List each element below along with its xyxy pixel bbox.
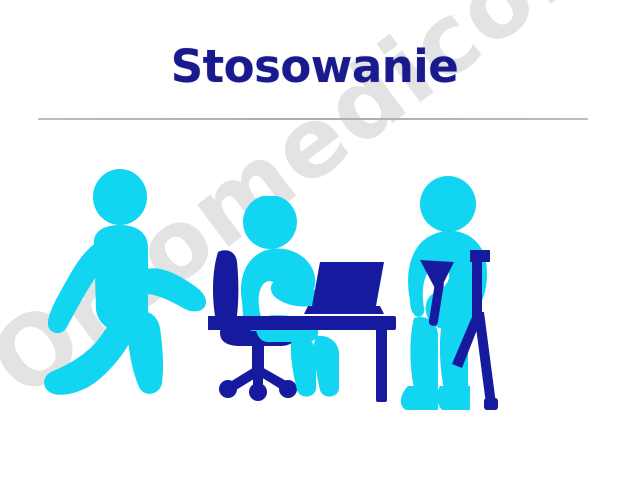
walking-person-icon: [36, 168, 206, 400]
title-divider: [38, 118, 588, 120]
page-title: Stosowanie: [0, 0, 629, 93]
person-with-crutch-icon: [390, 172, 518, 420]
title-block: Stosowanie: [0, 0, 629, 93]
slide-canvas: Ortomedico.pl Stosowanie: [0, 0, 629, 493]
person-at-desk-icon: [208, 196, 398, 402]
